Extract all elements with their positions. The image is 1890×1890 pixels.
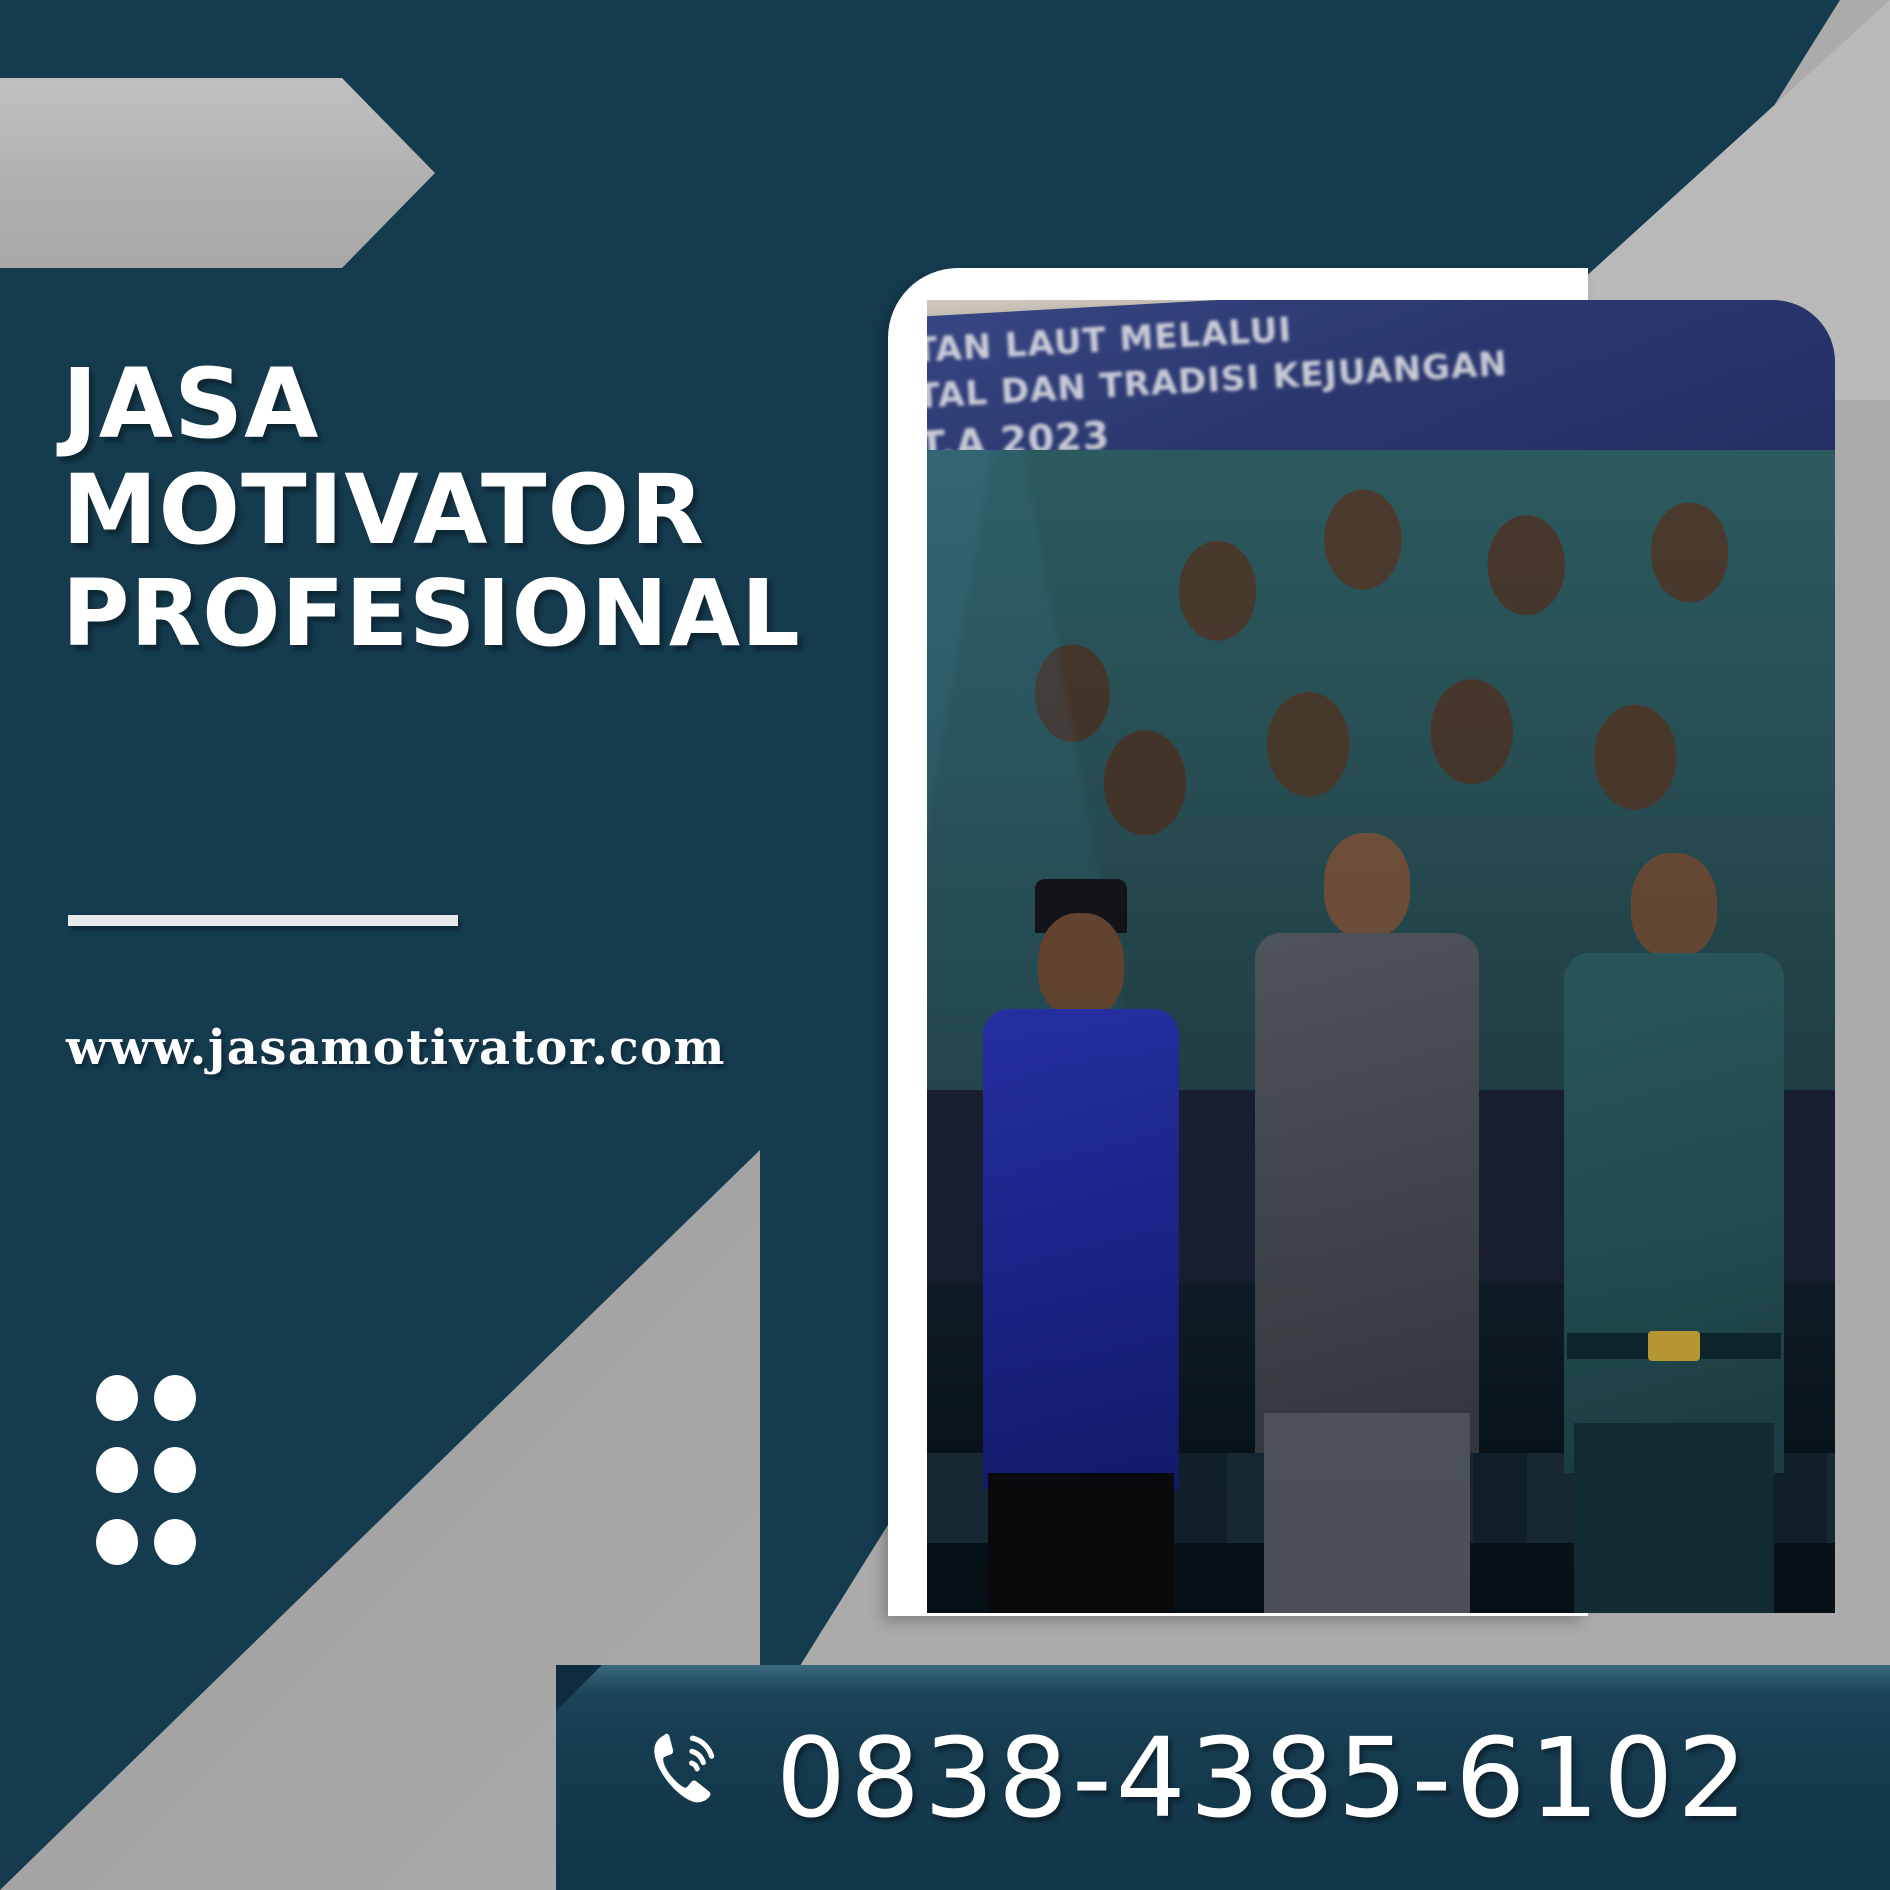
headline-line-1: JASA: [62, 352, 762, 458]
poster-canvas: JASA MOTIVATOR PROFESIONAL www.jasamotiv…: [0, 0, 1890, 1890]
photo-vignette: [927, 300, 1835, 1613]
dot-icon: [154, 1375, 196, 1421]
phone-call-icon[interactable]: [638, 1724, 742, 1832]
dot-grid: [96, 1375, 212, 1591]
dot-icon: [154, 1519, 196, 1565]
dot-icon: [96, 1519, 138, 1565]
dot-icon: [96, 1375, 138, 1421]
photo-content: TAN LAUT MELALUI TAL DAN TRADISI KEJUANG…: [927, 300, 1835, 1613]
chevron-arrow-shape: [0, 78, 435, 268]
website-url[interactable]: www.jasamotivator.com: [66, 1020, 726, 1076]
dot-icon: [96, 1447, 138, 1493]
event-photo: TAN LAUT MELALUI TAL DAN TRADISI KEJUANG…: [927, 300, 1835, 1613]
headline-line-3: PROFESIONAL: [62, 563, 762, 664]
page-title: JASA MOTIVATOR PROFESIONAL: [62, 352, 762, 664]
contact-bar-content: 0838-4385-6102: [556, 1665, 1890, 1890]
headline-line-2: MOTIVATOR: [62, 458, 762, 564]
dot-icon: [154, 1447, 196, 1493]
divider-rule: [68, 915, 458, 926]
phone-number[interactable]: 0838-4385-6102: [776, 1714, 1751, 1842]
